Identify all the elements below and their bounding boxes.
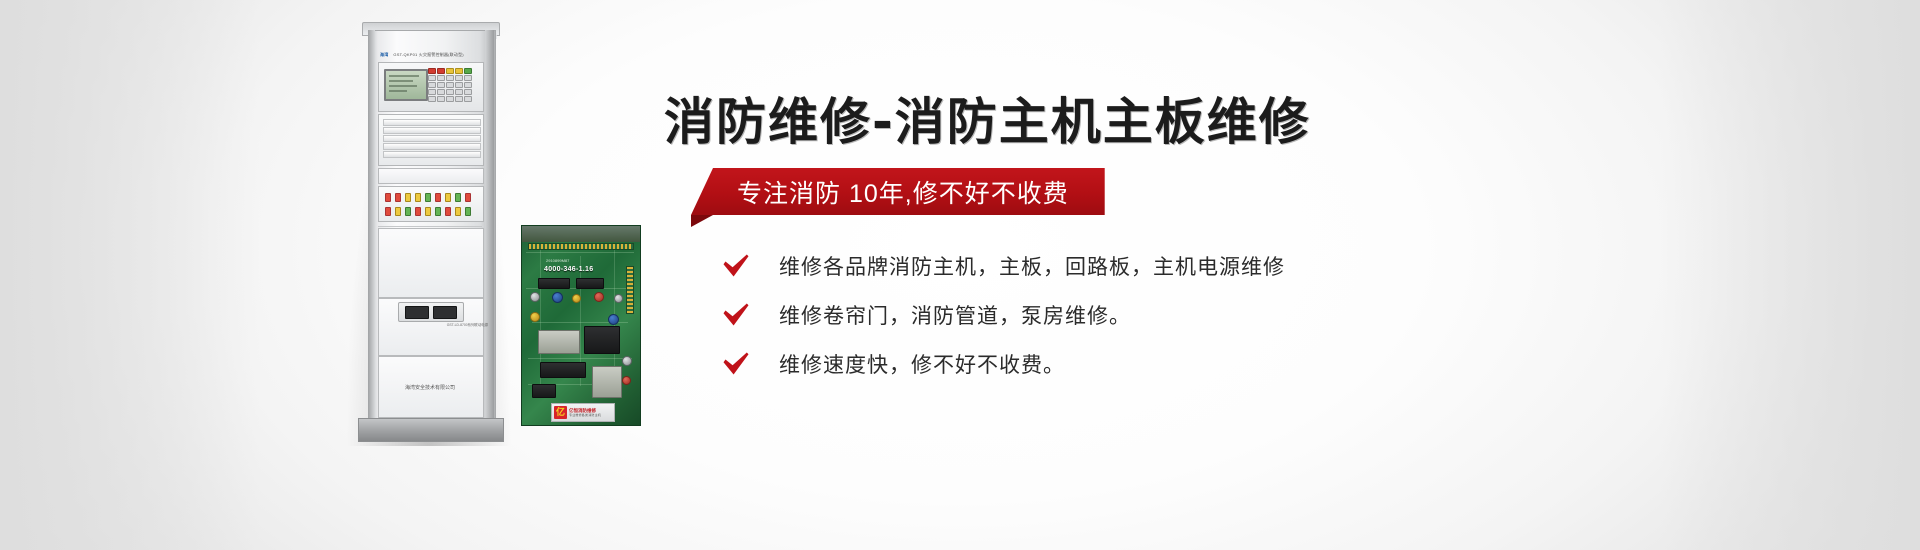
list-item-label: 维修卷帘门，消防管道，泵房维修。 (779, 300, 1131, 330)
status-led (405, 207, 411, 216)
promo-banner: 海湾GST-QKP01 火灾报警控制器(联动型) (0, 0, 1920, 550)
check-icon (721, 251, 751, 281)
status-led (385, 193, 391, 202)
pcb-trace (526, 252, 634, 253)
cabinet-indicator-module (378, 186, 484, 222)
keypad-key (464, 96, 472, 102)
list-item: 维修速度快，修不好不收费。 (721, 341, 1621, 387)
keypad-key (464, 89, 472, 95)
cabinet-brand-line: GST-QKP01 火灾报警控制器(联动型) (393, 52, 463, 57)
keypad-key (446, 75, 454, 81)
zone-card-slot (383, 119, 481, 126)
circuit-board-image: 4000-346-1.16 2910899M87 亿 亿恒消防维修 专业维修各类… (521, 225, 641, 426)
status-led (455, 207, 461, 216)
pcb-chip (532, 384, 556, 398)
pcb-capacitor (552, 292, 563, 303)
keypad-key (455, 75, 463, 81)
lcd-text-line (389, 75, 419, 77)
lcd-text-line (389, 90, 407, 92)
pcb-sub-label: 2910899M87 (546, 258, 569, 263)
cabinet-model-text: GST-LD-8700系列联动电源 (447, 322, 488, 327)
promo-ribbon: 专注消防 10年,修不好不收费 (691, 168, 1105, 215)
pcb-chip (576, 278, 604, 289)
status-led (405, 193, 411, 202)
cabinet-keypad (428, 68, 478, 106)
status-led (415, 193, 421, 202)
pcb-capacitor (572, 294, 581, 303)
zone-card-slot (383, 151, 481, 158)
keypad-key (446, 82, 454, 88)
status-led (395, 207, 401, 216)
keypad-key (455, 82, 463, 88)
zone-card-slot (383, 143, 481, 150)
zone-card-slot (383, 135, 481, 142)
keypad-key (428, 96, 436, 102)
keypad-key (428, 68, 436, 74)
keypad-key (428, 75, 436, 81)
keypad-key (455, 96, 463, 102)
keypad-key (437, 68, 445, 74)
cabinet-seam (378, 226, 482, 227)
lcd-text-line (389, 80, 413, 82)
keypad-key (455, 89, 463, 95)
meter-display (405, 306, 429, 319)
cabinet-company-label: 海湾安全技术有限公司 (378, 384, 482, 392)
logo-text: 亿恒消防维修 专业维修各类消防主机 (569, 408, 601, 418)
check-icon (721, 300, 751, 330)
logo-badge: 亿 (554, 406, 567, 419)
cabinet-left-edge (368, 30, 375, 434)
pcb-ic-chip (584, 326, 620, 354)
cabinet-zone-module (378, 114, 484, 166)
pcb-chip (538, 278, 570, 289)
keypad-key (464, 75, 472, 81)
pcb-capacitor (622, 356, 632, 366)
pcb-header-connector (528, 243, 634, 250)
cabinet-blank-panel (378, 228, 484, 298)
pcb-ic-chip (592, 366, 622, 398)
pcb-capacitor (608, 314, 619, 325)
pcb-capacitor (530, 312, 540, 322)
pcb-capacitor (614, 294, 623, 303)
pcb-chip (540, 362, 586, 378)
status-led (465, 207, 471, 216)
cabinet-power-meter (398, 302, 464, 322)
logo-tagline: 专业维修各类消防主机 (569, 413, 601, 418)
status-led (455, 193, 461, 202)
pcb-capacitor (622, 376, 631, 385)
status-led (435, 207, 441, 216)
status-led (445, 207, 451, 216)
keypad-key (437, 96, 445, 102)
cabinet-blank-panel (378, 168, 484, 184)
status-led (415, 207, 421, 216)
banner-content: 消防维修-消防主机主板维修 专注消防 10年,修不好不收费 维修各品牌消防主机，… (664, 0, 1814, 550)
keypad-key (437, 75, 445, 81)
background-gradient-left (0, 0, 260, 550)
cabinet-base (358, 418, 504, 442)
status-led (395, 193, 401, 202)
cabinet-brand-strip: 海湾GST-QKP01 火灾报警控制器(联动型) (380, 50, 480, 59)
status-led (445, 193, 451, 202)
status-led (465, 193, 471, 202)
cabinet-display-module (378, 62, 484, 112)
list-item-label: 维修各品牌消防主机，主板，回路板，主机电源维修 (779, 251, 1285, 281)
pcb-edge-connector (626, 266, 634, 314)
cabinet-lcd-screen (384, 69, 428, 101)
cabinet-right-edge (485, 30, 494, 434)
pcb-board-label: 4000-346-1.16 (544, 266, 593, 273)
page-title: 消防维修-消防主机主板维修 (664, 96, 1311, 148)
meter-display (433, 306, 457, 319)
ribbon-fold (691, 215, 713, 227)
keypad-key (464, 82, 472, 88)
keypad-key (446, 96, 454, 102)
status-led (425, 193, 431, 202)
lcd-text-line (389, 85, 417, 87)
logo-company-name: 亿恒消防维修 (569, 408, 596, 413)
pcb-capacitor (530, 292, 540, 302)
cabinet-brand-mark: 海湾 (380, 52, 388, 57)
status-led (435, 193, 441, 202)
list-item: 维修各品牌消防主机，主板，回路板，主机电源维修 (721, 243, 1621, 289)
keypad-key (428, 89, 436, 95)
status-led (385, 207, 391, 216)
keypad-key (428, 82, 436, 88)
list-item-label: 维修速度快，修不好不收费。 (779, 349, 1065, 379)
ribbon-label: 专注消防 10年,修不好不收费 (737, 174, 1069, 210)
feature-list: 维修各品牌消防主机，主板，回路板，主机电源维修 维修卷帘门，消防管道，泵房维修。… (721, 243, 1621, 390)
pcb-ic-chip (538, 330, 580, 354)
zone-card-slot (383, 127, 481, 134)
check-icon (721, 349, 751, 379)
keypad-key (464, 68, 472, 74)
pcb-top-bracket (522, 226, 640, 242)
keypad-key (446, 68, 454, 74)
keypad-key (437, 82, 445, 88)
status-led (425, 207, 431, 216)
fire-alarm-panel-image: 海湾GST-QKP01 火灾报警控制器(联动型) (352, 14, 504, 442)
keypad-key (437, 89, 445, 95)
keypad-key (446, 89, 454, 95)
list-item: 维修卷帘门，消防管道，泵房维修。 (721, 292, 1621, 338)
pcb-capacitor (594, 292, 604, 302)
keypad-key (455, 68, 463, 74)
repair-company-logo: 亿 亿恒消防维修 专业维修各类消防主机 (551, 403, 615, 422)
